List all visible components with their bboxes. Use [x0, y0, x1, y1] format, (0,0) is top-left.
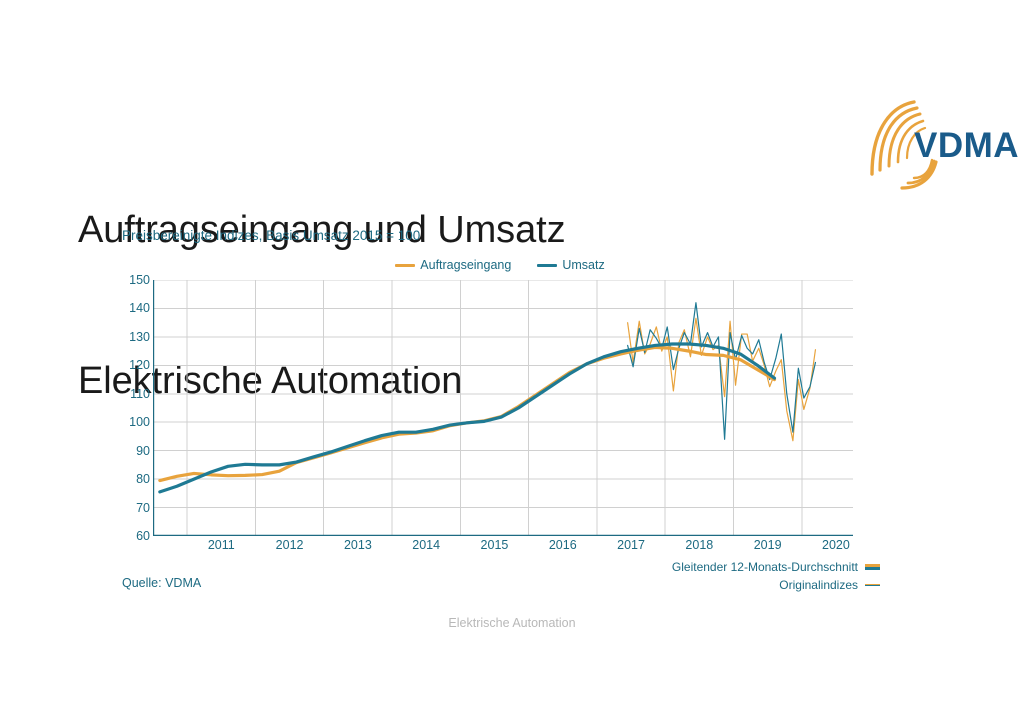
style-legend-label-original-index: Originalindizes: [779, 578, 858, 592]
x-axis-tick-label: 2017: [617, 538, 645, 552]
x-axis-tick-label: 2019: [754, 538, 782, 552]
x-axis-tick-label: 2016: [549, 538, 577, 552]
y-axis: 15014013012011010090807060: [110, 280, 150, 536]
source-note: Quelle: VDMA: [122, 576, 201, 590]
x-axis-tick-label: 2014: [412, 538, 440, 552]
x-axis-tick-label: 2013: [344, 538, 372, 552]
chart-container: Preisbereinigte Indizes, Basis Umsatz 20…: [110, 228, 890, 608]
y-axis-tick-label: 100: [129, 415, 150, 429]
y-axis-tick-label: 70: [136, 501, 150, 515]
legend-swatch-umsatz: [537, 264, 557, 267]
chart-subtitle: Preisbereinigte Indizes, Basis Umsatz 20…: [122, 228, 420, 243]
legend-item-auftragseingang: Auftragseingang: [395, 258, 511, 272]
plot-area: [153, 280, 853, 536]
line-style-legend: Gleitender 12-Monats-Durchschnitt Origin…: [672, 560, 880, 596]
x-axis-tick-label: 2012: [276, 538, 304, 552]
legend-label-umsatz: Umsatz: [562, 258, 604, 272]
y-axis-tick-label: 150: [129, 273, 150, 287]
x-axis: 2011201220132014201520162017201820192020: [153, 538, 853, 560]
style-legend-row-moving-average: Gleitender 12-Monats-Durchschnitt: [672, 560, 880, 574]
y-axis-tick-label: 130: [129, 330, 150, 344]
slide-caption: Elektrische Automation: [0, 616, 1024, 630]
series-line-auftragseingang-moving-average: [160, 347, 775, 480]
x-axis-tick-label: 2018: [685, 538, 713, 552]
legend-item-umsatz: Umsatz: [537, 258, 604, 272]
x-axis-tick-label: 2015: [481, 538, 509, 552]
style-swatch-thick: [865, 564, 880, 570]
y-axis-tick-label: 120: [129, 358, 150, 372]
chart-plot-svg: [153, 280, 853, 536]
style-legend-row-original-index: Originalindizes: [672, 578, 880, 592]
vdma-logo: VDMA: [862, 96, 1012, 196]
x-axis-tick-label: 2011: [208, 538, 235, 552]
legend-label-auftragseingang: Auftragseingang: [420, 258, 511, 272]
chart-legend: Auftragseingang Umsatz: [110, 258, 890, 272]
y-axis-tick-label: 140: [129, 301, 150, 315]
y-axis-tick-label: 110: [130, 387, 150, 401]
legend-swatch-auftragseingang: [395, 264, 415, 267]
y-axis-tick-label: 80: [136, 472, 150, 486]
plot-wrapper: 15014013012011010090807060 2011201220132…: [110, 280, 890, 540]
y-axis-tick-label: 90: [136, 444, 150, 458]
x-axis-tick-label: 2020: [822, 538, 850, 552]
series-line-umsatz-moving-average: [160, 344, 775, 492]
style-legend-label-moving-average: Gleitender 12-Monats-Durchschnitt: [672, 560, 858, 574]
style-swatch-thin: [865, 584, 880, 586]
vdma-wordmark: VDMA: [914, 126, 1019, 166]
y-axis-tick-label: 60: [136, 529, 150, 543]
